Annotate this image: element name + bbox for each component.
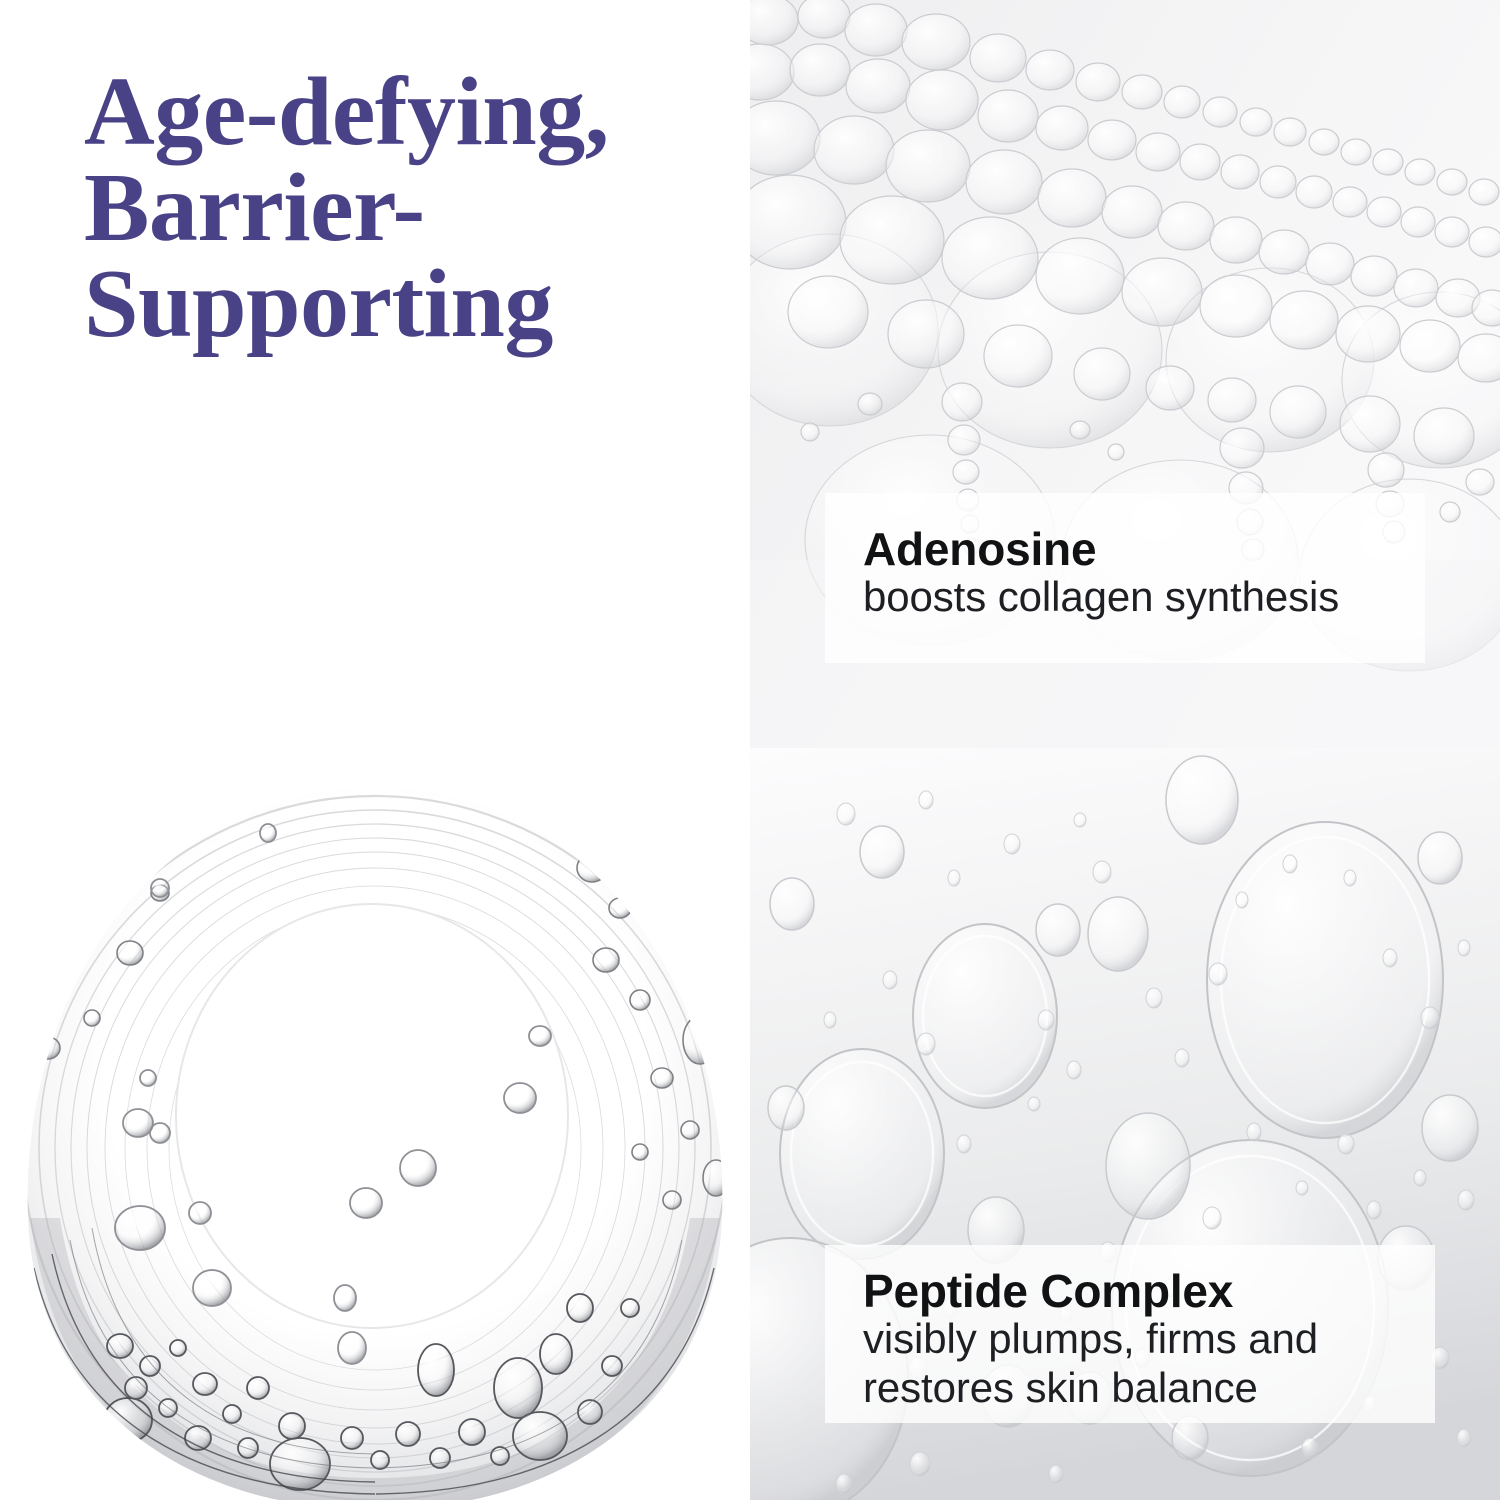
headline-line-2: Barrier- <box>84 160 704 256</box>
headline-line-1: Age-defying, <box>84 64 704 160</box>
ingredient-name-adenosine: Adenosine <box>863 525 1425 573</box>
description-line: boosts collagen synthesis <box>863 573 1425 622</box>
panel-hydrolyzed-elastin: Hydrolyzed Elastin locks in moisture and… <box>0 748 750 1500</box>
ingredient-description-peptide-complex: visibly plumps, firms and restores skin … <box>863 1315 1435 1412</box>
headline-panel: Age-defying, Barrier- Supporting <box>0 0 750 748</box>
gel-ring-texture-icon <box>0 748 750 1500</box>
panel-adenosine: Adenosine boosts collagen synthesis <box>750 0 1500 748</box>
gel-ring-image <box>0 748 750 1500</box>
headline-line-3: Supporting <box>84 256 704 352</box>
description-line: restores skin balance <box>863 1364 1435 1413</box>
caption-adenosine: Adenosine boosts collagen synthesis <box>825 493 1425 663</box>
page-title: Age-defying, Barrier- Supporting <box>84 64 704 352</box>
description-line: visibly plumps, firms and <box>863 1315 1435 1364</box>
ingredient-name-peptide-complex: Peptide Complex <box>863 1267 1435 1315</box>
ingredient-description-adenosine: boosts collagen synthesis <box>863 573 1425 622</box>
caption-peptide-complex: Peptide Complex visibly plumps, firms an… <box>825 1245 1435 1423</box>
ingredient-infographic: Age-defying, Barrier- Supporting <box>0 0 1500 1500</box>
panel-peptide-complex: Peptide Complex visibly plumps, firms an… <box>750 748 1500 1500</box>
